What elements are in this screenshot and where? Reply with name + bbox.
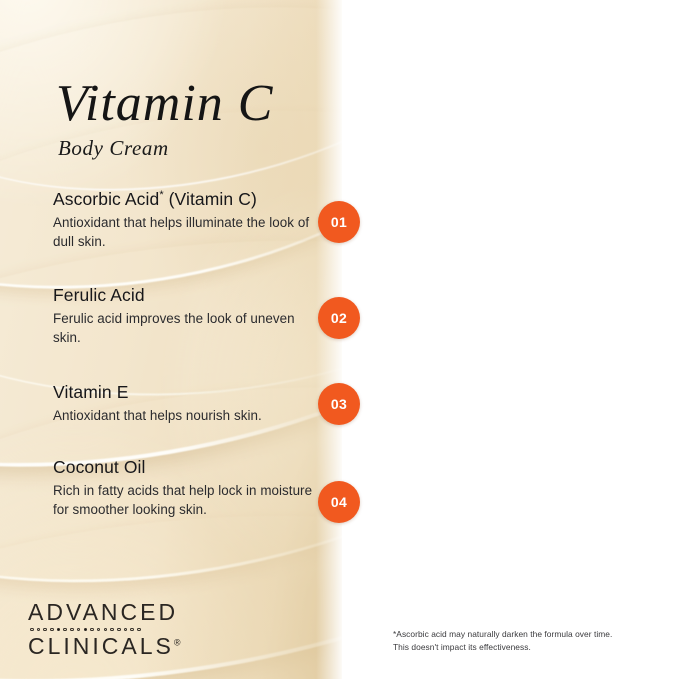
page-subtitle: Body Cream bbox=[58, 136, 169, 161]
ingredient-description: Antioxidant that helps nourish skin. bbox=[53, 406, 325, 425]
logo-dot bbox=[50, 628, 54, 632]
ingredient-item-01: Ascorbic Acid* (Vitamin C) Antioxidant t… bbox=[53, 189, 325, 252]
ingredient-name: Ferulic Acid bbox=[53, 285, 325, 307]
logo-dot bbox=[70, 628, 74, 632]
logo-dot bbox=[130, 628, 134, 632]
ingredient-badge-03: 03 bbox=[318, 383, 360, 425]
brand-logo-line1: ADVANCED bbox=[28, 600, 181, 625]
logo-dot bbox=[117, 628, 121, 632]
badge-number: 01 bbox=[331, 214, 347, 230]
logo-dot bbox=[124, 628, 128, 632]
registered-trademark-icon: ® bbox=[174, 637, 181, 647]
badge-number: 04 bbox=[331, 494, 347, 510]
ingredient-badge-01: 01 bbox=[318, 201, 360, 243]
logo-dot bbox=[30, 628, 34, 632]
ingredient-name: Ascorbic Acid* (Vitamin C) bbox=[53, 189, 325, 211]
logo-dot-filled bbox=[84, 628, 88, 632]
logo-dot bbox=[43, 628, 47, 632]
logo-dot-filled bbox=[57, 628, 61, 632]
ingredient-item-04: Coconut Oil Rich in fatty acids that hel… bbox=[53, 457, 325, 520]
footnote-disclaimer: *Ascorbic acid may naturally darken the … bbox=[393, 628, 625, 654]
logo-dot bbox=[63, 628, 67, 632]
ingredient-item-02: Ferulic Acid Ferulic acid improves the l… bbox=[53, 285, 325, 348]
ingredient-description: Ferulic acid improves the look of uneven… bbox=[53, 309, 325, 348]
logo-dot bbox=[77, 628, 81, 632]
logo-dot bbox=[110, 628, 114, 632]
logo-dot bbox=[90, 628, 94, 632]
badge-number: 03 bbox=[331, 396, 347, 412]
ingredient-name-suffix: (Vitamin C) bbox=[164, 189, 257, 209]
ingredient-badge-02: 02 bbox=[318, 297, 360, 339]
ingredient-description: Antioxidant that helps illuminate the lo… bbox=[53, 213, 325, 252]
logo-dot bbox=[97, 628, 101, 632]
product-infographic: Vitamin C Body Cream 01 02 03 04 Ascorbi… bbox=[0, 0, 679, 679]
content-panel bbox=[342, 0, 679, 679]
logo-dot bbox=[104, 628, 108, 632]
brand-logo: ADVANCED CLINICALS® bbox=[28, 600, 181, 659]
ingredient-badge-04: 04 bbox=[318, 481, 360, 523]
badge-number: 02 bbox=[331, 310, 347, 326]
brand-logo-line2-text: CLINICALS bbox=[28, 633, 174, 659]
ingredient-name-text: Ferulic Acid bbox=[53, 285, 145, 305]
ingredient-item-03: Vitamin E Antioxidant that helps nourish… bbox=[53, 382, 325, 425]
logo-dot bbox=[37, 628, 41, 632]
brand-logo-dot-row bbox=[30, 626, 181, 633]
ingredient-description: Rich in fatty acids that help lock in mo… bbox=[53, 481, 325, 520]
ingredient-name: Vitamin E bbox=[53, 382, 325, 404]
ingredient-name-text: Ascorbic Acid bbox=[53, 189, 159, 209]
page-title: Vitamin C bbox=[56, 78, 273, 130]
ingredient-name: Coconut Oil bbox=[53, 457, 325, 479]
brand-logo-line2: CLINICALS® bbox=[28, 634, 181, 659]
ingredient-name-text: Vitamin E bbox=[53, 382, 128, 402]
ingredient-name-text: Coconut Oil bbox=[53, 457, 146, 477]
logo-dot bbox=[137, 628, 141, 632]
